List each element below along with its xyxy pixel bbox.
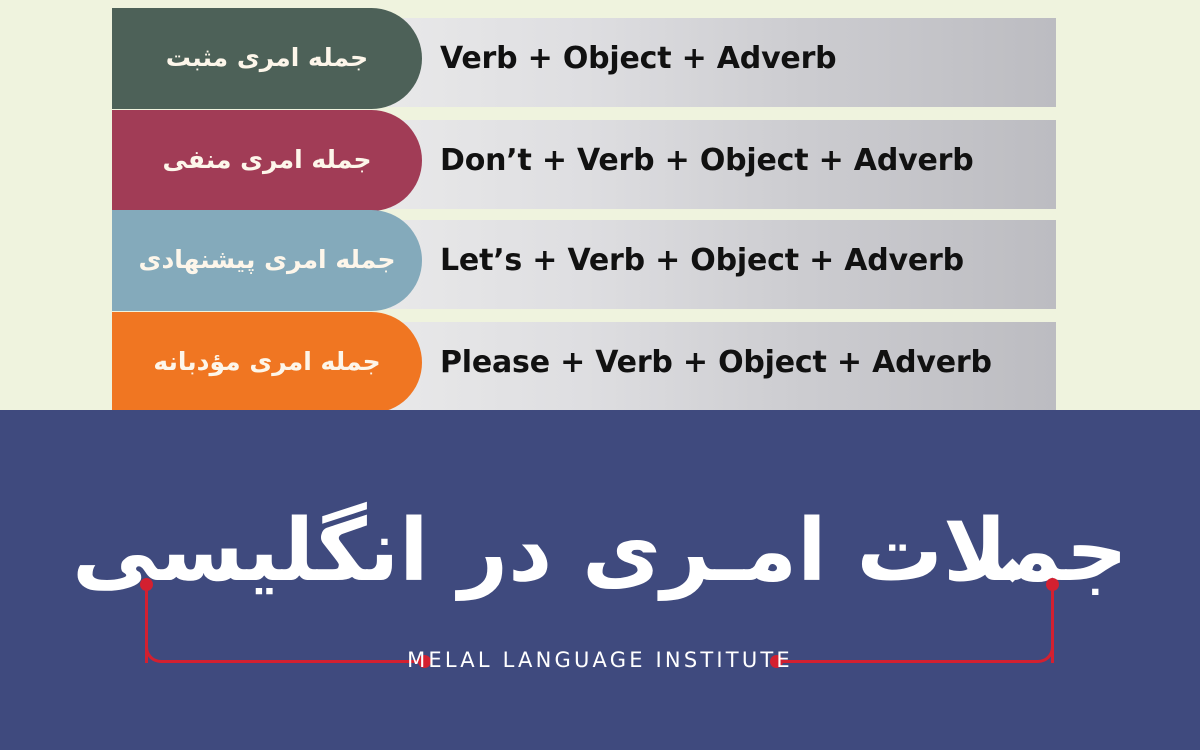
page-title: جملات امـری در انگلیسی xyxy=(0,508,1200,594)
category-label: جمله امری مثبت xyxy=(166,43,368,72)
category-pill-positive-imperative[interactable]: جمله امری مثبت xyxy=(112,8,422,109)
formula-text: Please + Verb + Object + Adverb xyxy=(440,312,992,412)
category-label: جمله امری مؤدبانه xyxy=(153,347,380,376)
table-row: جمله امری پیشنهادی Let’s + Verb + Object… xyxy=(0,210,1200,311)
formula-text: Verb + Object + Adverb xyxy=(440,8,836,109)
formula-text: Let’s + Verb + Object + Adverb xyxy=(440,210,964,311)
category-pill-polite-imperative[interactable]: جمله امری مؤدبانه xyxy=(112,312,422,412)
imperative-structures-table: جمله امری مثبت Verb + Object + Adverb جم… xyxy=(0,0,1200,412)
category-label: جمله امری پیشنهادی xyxy=(139,245,396,274)
bracket-dot-top-left xyxy=(140,578,153,591)
institute-name: MELAL LANGUAGE INSTITUTE xyxy=(0,648,1200,672)
bracket-dot-top-right xyxy=(1046,578,1059,591)
category-pill-negative-imperative[interactable]: جمله امری منفی xyxy=(112,110,422,211)
category-label: جمله امری منفی xyxy=(162,145,371,174)
table-row: جمله امری منفی Don’t + Verb + Object + A… xyxy=(0,110,1200,211)
category-pill-suggestive-imperative[interactable]: جمله امری پیشنهادی xyxy=(112,210,422,311)
formula-text: Don’t + Verb + Object + Adverb xyxy=(440,110,973,211)
table-row: جمله امری مثبت Verb + Object + Adverb xyxy=(0,8,1200,109)
title-banner: جملات امـری در انگلیسی MELAL LANGUAGE IN… xyxy=(0,410,1200,750)
table-row: جمله امری مؤدبانه Please + Verb + Object… xyxy=(0,312,1200,412)
